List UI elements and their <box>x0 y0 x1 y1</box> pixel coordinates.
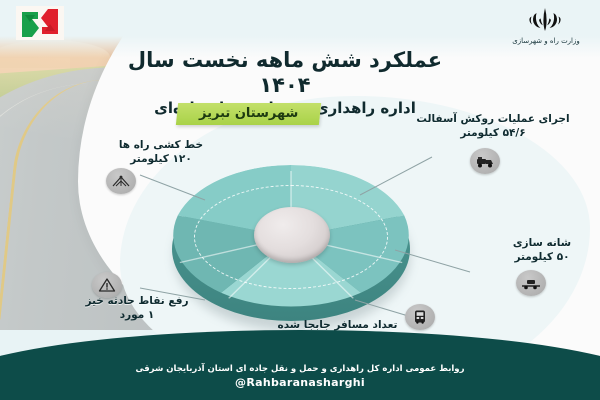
grader-icon <box>516 270 546 296</box>
footer-handle[interactable]: @Rahbaranasharghi <box>0 376 600 389</box>
city-badge: شهرستان تبریز <box>176 103 322 125</box>
road-marking-icon <box>106 168 136 194</box>
stat-road-marking: خط کشی راه ها ۱۲۰ کیلومتر <box>96 138 226 165</box>
stat-black-spots-label: رفع نقاط حادثه خیز <box>72 294 202 309</box>
footer-bar: روابط عمومی اداره کل راهداری و حمل و نقل… <box>0 330 600 400</box>
bus-icon <box>405 304 435 330</box>
stat-asphalt: اجرای عملیات روکش آسفالت ۵۴/۶ کیلومتر <box>398 112 588 139</box>
title-line-1: عملکرد شش ماهه نخست سال ۱۴۰۴ <box>120 48 450 98</box>
stat-black-spots-value: ۱ مورد <box>72 309 202 321</box>
ministry-name: وزارت راه و شهرسازی <box>500 37 592 45</box>
warning-triangle-icon <box>92 272 122 298</box>
paver-truck-icon <box>470 148 500 174</box>
city-badge-label: شهرستان تبریز <box>199 106 298 121</box>
ministry-logo: وزارت راه و شهرسازی <box>500 4 592 45</box>
stat-black-spots: رفع نقاط حادثه خیز ۱ مورد <box>72 294 202 321</box>
infographic-poster: وزارت راه و شهرسازی عملکرد شش ماهه نخست … <box>0 0 600 400</box>
iran-emblem-icon <box>526 4 566 36</box>
road-maintenance-logo <box>16 6 64 40</box>
stat-asphalt-value: ۵۴/۶ کیلومتر <box>398 127 588 139</box>
stat-shoulder-value: ۵۰ کیلومتر <box>492 251 592 263</box>
donut-chart <box>168 155 418 345</box>
stat-asphalt-label: اجرای عملیات روکش آسفالت <box>398 112 588 127</box>
stat-road-marking-value: ۱۲۰ کیلومتر <box>96 153 226 165</box>
footer-organization: روابط عمومی اداره کل راهداری و حمل و نقل… <box>0 364 600 374</box>
donut-center-hole <box>254 207 330 263</box>
stat-road-marking-label: خط کشی راه ها <box>96 138 226 153</box>
stat-shoulder: شانه سازی ۵۰ کیلومتر <box>492 236 592 263</box>
stat-shoulder-label: شانه سازی <box>492 236 592 251</box>
